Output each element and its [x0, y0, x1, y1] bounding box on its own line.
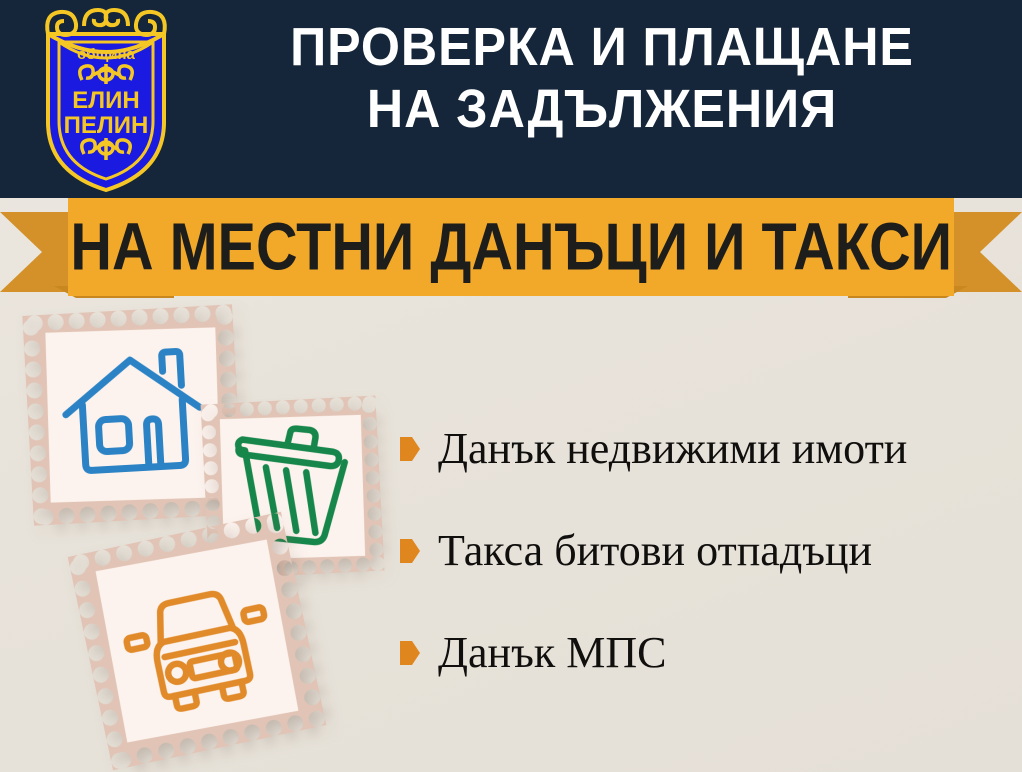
- page-title-line-2: НА ЗАДЪЛЖЕНИЯ: [221, 78, 984, 140]
- ribbon-banner: НА МЕСТНИ ДАНЪЦИ И ТАКСИ: [68, 198, 954, 296]
- logo-name-line-2: ПЕЛИН: [64, 112, 149, 139]
- stamp-frame-vehicle: [68, 512, 327, 771]
- list-item-label: Такса битови отпадъци: [438, 526, 872, 576]
- arrow-bullet-icon: [400, 539, 420, 563]
- stamp-card-group: [0, 300, 430, 772]
- list-item-label: Данък недвижими имоти: [438, 424, 907, 474]
- page-title-line-1: ПРОВЕРКА И ПЛАЩАНЕ: [221, 16, 984, 78]
- header-bar: община ЕЛИН ПЕЛИН ПРОВЕРКА И ПЛАЩАНЕ НА …: [0, 0, 1022, 198]
- list-item-label: Данък МПС: [438, 628, 666, 678]
- list-item[interactable]: Данък недвижими имоти: [400, 424, 1010, 474]
- tax-type-list: Данък недвижими имоти Такса битови отпад…: [400, 424, 1010, 730]
- coat-of-arms-icon: община ЕЛИН ПЕЛИН: [22, 4, 190, 194]
- stamp-card-vehicle: [68, 512, 327, 771]
- arrow-bullet-icon: [400, 437, 420, 461]
- municipality-logo: община ЕЛИН ПЕЛИН: [22, 4, 190, 194]
- ribbon-label: НА МЕСТНИ ДАНЪЦИ И ТАКСИ: [70, 213, 952, 280]
- page-title: ПРОВЕРКА И ПЛАЩАНЕ НА ЗАДЪЛЖЕНИЯ: [192, 16, 1012, 140]
- subtitle-ribbon: НА МЕСТНИ ДАНЪЦИ И ТАКСИ: [0, 198, 1022, 308]
- list-item[interactable]: Такса битови отпадъци: [400, 526, 1010, 576]
- poster-canvas: община ЕЛИН ПЕЛИН ПРОВЕРКА И ПЛАЩАНЕ НА …: [0, 0, 1022, 772]
- list-item[interactable]: Данък МПС: [400, 628, 1010, 678]
- arrow-bullet-icon: [400, 641, 420, 665]
- logo-top-text: община: [77, 46, 135, 63]
- logo-name-line-1: ЕЛИН: [72, 87, 139, 114]
